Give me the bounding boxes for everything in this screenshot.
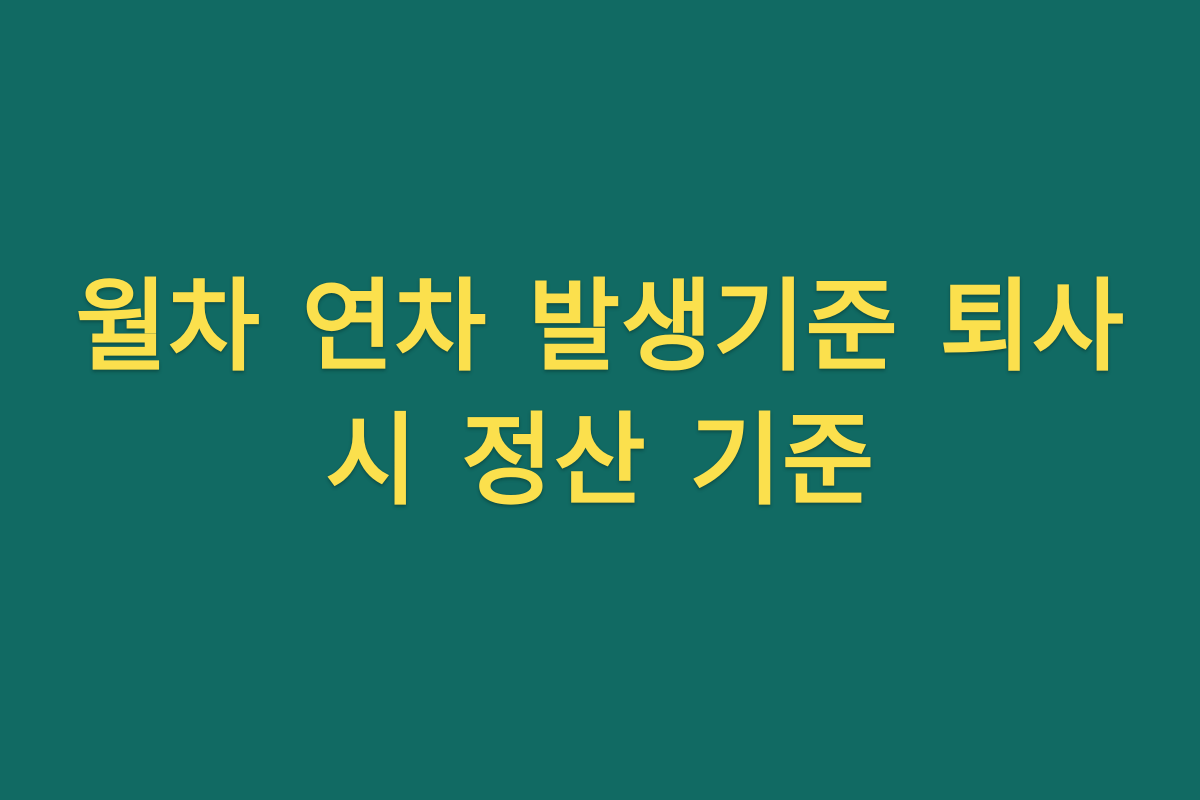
- title-line-1: 월차 연차 발생기준 퇴사: [60, 260, 1140, 394]
- page-title: 월차 연차 발생기준 퇴사 시 정산 기준: [60, 260, 1140, 528]
- title-line-2: 시 정산 기준: [60, 394, 1140, 528]
- title-banner: 월차 연차 발생기준 퇴사 시 정산 기준: [0, 0, 1200, 800]
